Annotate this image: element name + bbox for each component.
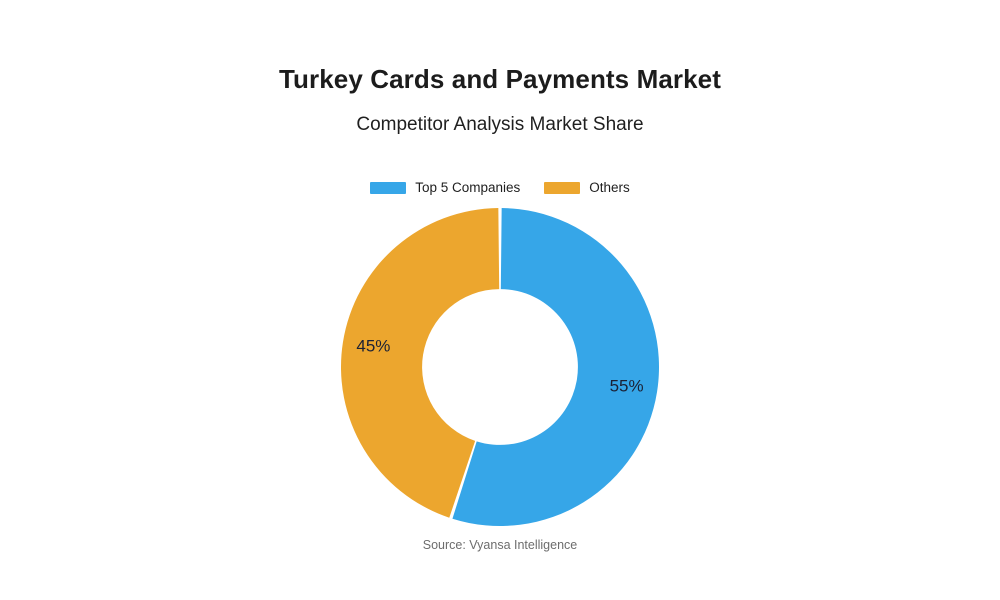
legend-item-top-5-companies[interactable]: Top 5 Companies <box>370 181 520 195</box>
donut-label-others: 45% <box>356 336 390 355</box>
donut-chart: 55% 45% <box>341 208 659 526</box>
chart-legend: Top 5 Companies Others <box>0 181 1000 195</box>
donut-label-top-5-companies: 55% <box>610 377 644 396</box>
legend-item-others[interactable]: Others <box>544 181 630 195</box>
legend-swatch-icon-top-5-companies <box>370 182 406 194</box>
legend-label-top-5-companies: Top 5 Companies <box>415 181 520 195</box>
legend-swatch-icon-others <box>544 182 580 194</box>
donut-slices <box>341 208 659 526</box>
chart-container: Turkey Cards and Payments Market Competi… <box>0 0 1000 600</box>
donut-svg: 55% 45% <box>341 208 659 526</box>
chart-subtitle: Competitor Analysis Market Share <box>0 114 1000 137</box>
legend-label-others: Others <box>589 181 630 195</box>
source-note: Source: Vyansa Intelligence <box>0 538 1000 553</box>
chart-title: Turkey Cards and Payments Market <box>0 64 1000 95</box>
